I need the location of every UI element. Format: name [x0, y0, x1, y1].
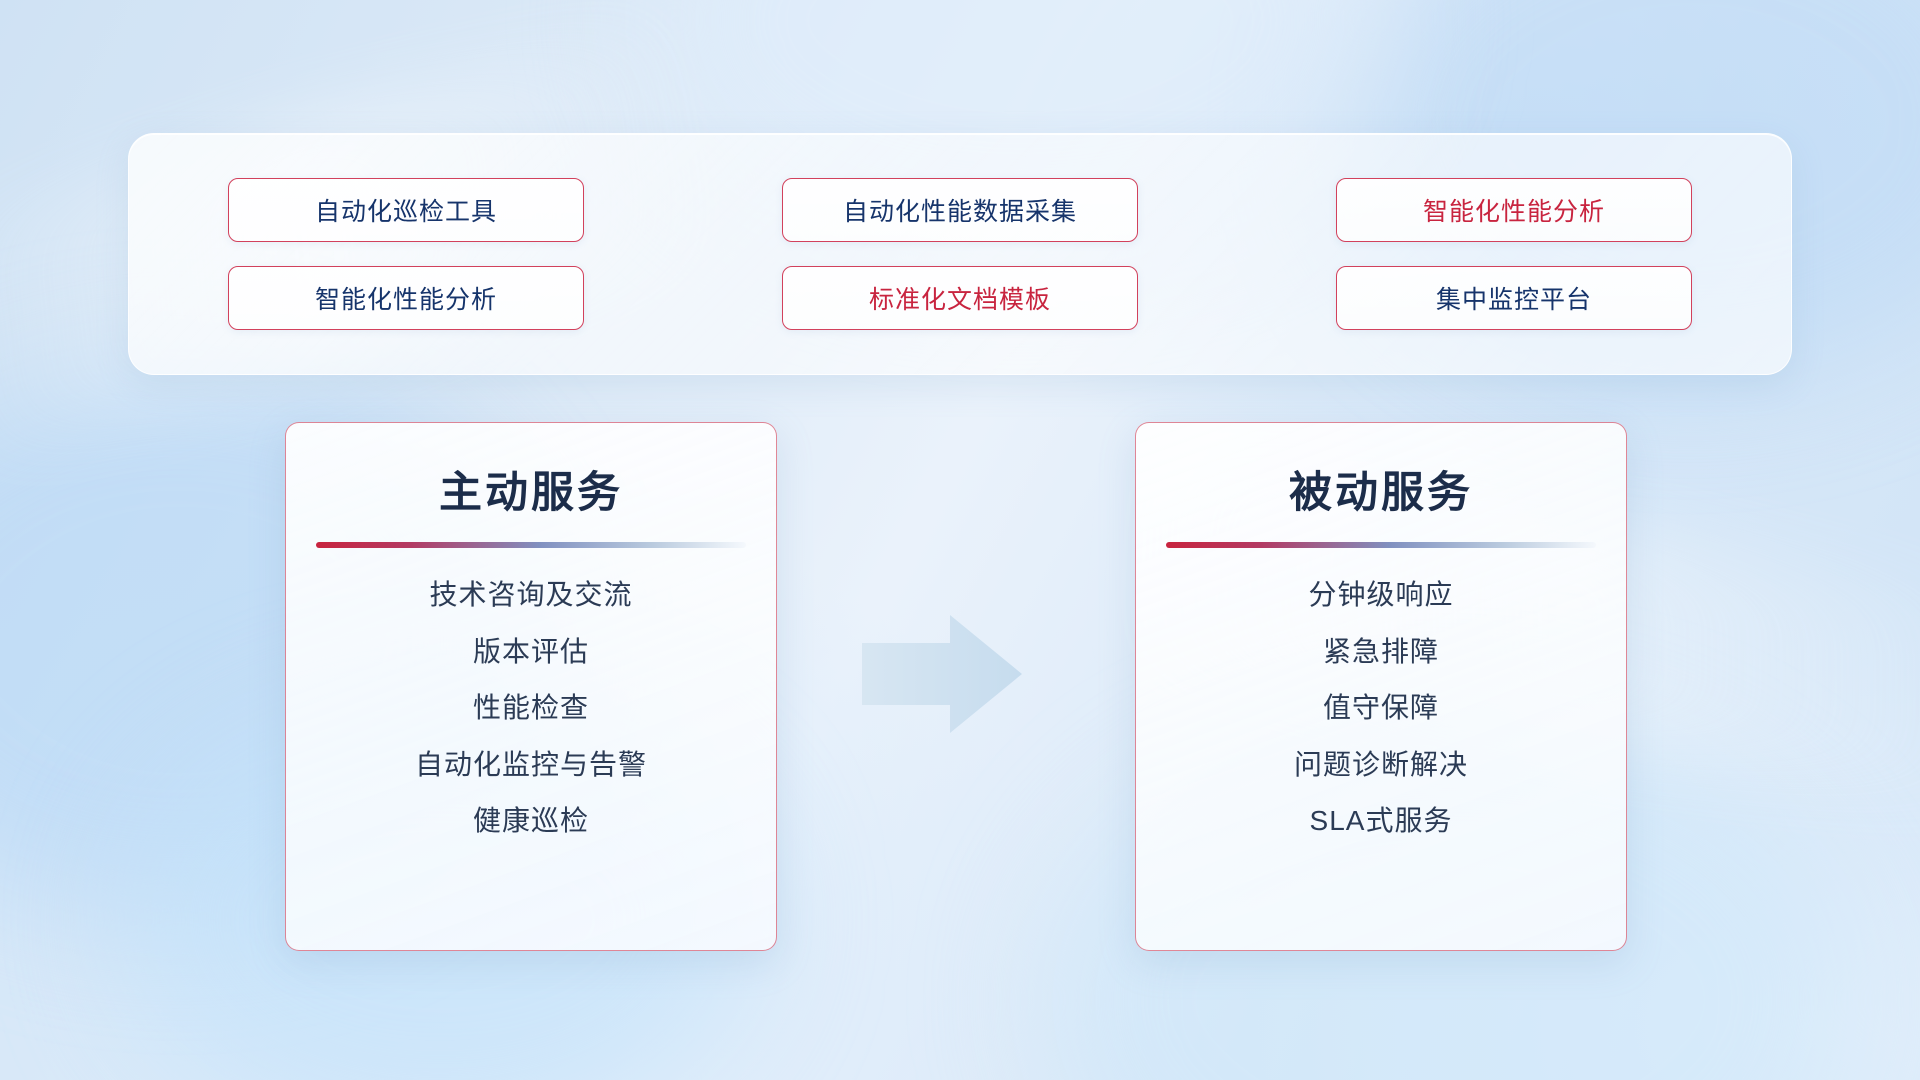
diagram-canvas: 自动化巡检工具 自动化性能数据采集 智能化性能分析 智能化性能分析 标准化文档模…: [0, 0, 1920, 1080]
list-item: SLA式服务: [1310, 804, 1453, 838]
capability-cell: 智能化性能分析: [228, 266, 584, 330]
capability-tag-intelligent-performance-analysis-2[interactable]: 智能化性能分析: [228, 266, 584, 330]
capabilities-row-2: 智能化性能分析 标准化文档模板 集中监控平台: [129, 266, 1791, 330]
capabilities-panel: 自动化巡检工具 自动化性能数据采集 智能化性能分析 智能化性能分析 标准化文档模…: [128, 133, 1792, 375]
list-item: 值守保障: [1323, 691, 1439, 725]
reactive-service-title: 被动服务: [1289, 458, 1473, 520]
list-item: 技术咨询及交流: [429, 578, 632, 612]
capability-cell: 集中监控平台: [1336, 266, 1692, 330]
capability-tag-centralized-monitoring-platform[interactable]: 集中监控平台: [1336, 266, 1692, 330]
list-item: 问题诊断解决: [1294, 748, 1468, 782]
reactive-service-card[interactable]: 被动服务 分钟级响应 紧急排障 值守保障 问题诊断解决 SLA式服务: [1135, 422, 1627, 951]
capability-tag-standardized-document-template[interactable]: 标准化文档模板: [782, 266, 1138, 330]
right-arrow-icon: [862, 615, 1022, 733]
proactive-service-card[interactable]: 主动服务 技术咨询及交流 版本评估 性能检查 自动化监控与告警 健康巡检: [285, 422, 777, 951]
capability-cell: 标准化文档模板: [782, 266, 1138, 330]
proactive-service-title: 主动服务: [439, 458, 623, 520]
list-item: 性能检查: [473, 691, 589, 725]
capability-tag-intelligent-performance-analysis[interactable]: 智能化性能分析: [1336, 178, 1692, 242]
proactive-service-items: 技术咨询及交流 版本评估 性能检查 自动化监控与告警 健康巡检: [286, 578, 776, 838]
list-item: 紧急排障: [1323, 635, 1439, 669]
list-item: 自动化监控与告警: [415, 748, 647, 782]
list-item: 健康巡检: [473, 804, 589, 838]
reactive-service-items: 分钟级响应 紧急排障 值守保障 问题诊断解决 SLA式服务: [1136, 578, 1626, 838]
list-item: 版本评估: [473, 635, 589, 669]
title-divider: [316, 542, 746, 548]
capability-cell: 自动化性能数据采集: [782, 178, 1138, 242]
capability-cell: 自动化巡检工具: [228, 178, 584, 242]
list-item: 分钟级响应: [1308, 578, 1453, 612]
title-divider: [1166, 542, 1596, 548]
capability-tag-automated-inspection-tool[interactable]: 自动化巡检工具: [228, 178, 584, 242]
capability-tag-automated-performance-data-collection[interactable]: 自动化性能数据采集: [782, 178, 1138, 242]
capability-cell: 智能化性能分析: [1336, 178, 1692, 242]
capabilities-row-1: 自动化巡检工具 自动化性能数据采集 智能化性能分析: [129, 178, 1791, 242]
